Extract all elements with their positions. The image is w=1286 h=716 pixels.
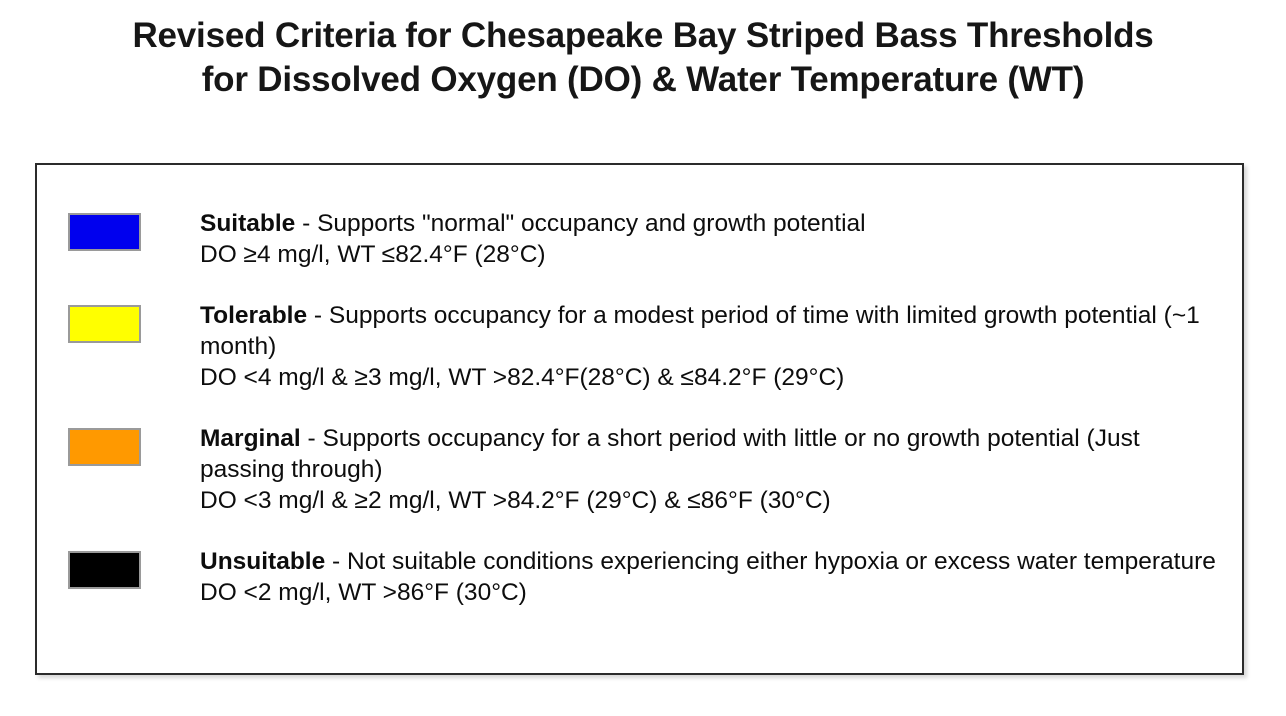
- legend-item-text: Suitable - Supports "normal" occupancy a…: [200, 208, 1222, 270]
- page-title-line-2: for Dissolved Oxygen (DO) & Water Temper…: [0, 58, 1286, 102]
- color-swatch-tolerable: [68, 305, 141, 343]
- legend-item-label: Unsuitable: [200, 548, 325, 575]
- legend-item-text: Marginal - Supports occupancy for a shor…: [200, 423, 1222, 516]
- page-title: Revised Criteria for Chesapeake Bay Stri…: [0, 14, 1286, 102]
- legend-item-label: Suitable: [200, 210, 295, 237]
- slide-root: Revised Criteria for Chesapeake Bay Stri…: [0, 0, 1286, 716]
- legend-item-description: Supports "normal" occupancy and growth p…: [317, 210, 866, 237]
- legend-item-label: Marginal: [200, 425, 301, 452]
- legend-item-description: Supports occupancy for a modest period o…: [200, 302, 1200, 360]
- legend-item-criteria: DO <3 mg/l & ≥2 mg/l, WT >84.2°F (29°C) …: [200, 485, 1222, 516]
- legend-item-criteria: DO <2 mg/l, WT >86°F (30°C): [200, 577, 1222, 608]
- legend-item-separator: -: [295, 210, 317, 237]
- legend-panel: Suitable - Supports "normal" occupancy a…: [35, 163, 1244, 675]
- legend-item-label: Tolerable: [200, 302, 307, 329]
- legend-item-separator: -: [325, 548, 347, 575]
- legend-item-criteria: DO <4 mg/l & ≥3 mg/l, WT >82.4°F(28°C) &…: [200, 362, 1222, 393]
- list-item: Suitable - Supports "normal" occupancy a…: [68, 208, 1222, 270]
- list-item: Tolerable - Supports occupancy for a mod…: [68, 300, 1222, 393]
- list-item: Unsuitable - Not suitable conditions exp…: [68, 546, 1222, 608]
- list-item: Marginal - Supports occupancy for a shor…: [68, 423, 1222, 516]
- legend-item-criteria: DO ≥4 mg/l, WT ≤82.4°F (28°C): [200, 239, 1222, 270]
- legend-item-separator: -: [301, 425, 323, 452]
- color-swatch-marginal: [68, 428, 141, 466]
- color-swatch-suitable: [68, 213, 141, 251]
- color-swatch-unsuitable: [68, 551, 141, 589]
- page-title-line-1: Revised Criteria for Chesapeake Bay Stri…: [0, 14, 1286, 58]
- legend-item-description: Supports occupancy for a short period wi…: [200, 425, 1140, 483]
- legend-item-text: Tolerable - Supports occupancy for a mod…: [200, 300, 1222, 393]
- legend-item-description: Not suitable conditions experiencing eit…: [347, 548, 1216, 575]
- legend-item-text: Unsuitable - Not suitable conditions exp…: [200, 546, 1222, 608]
- legend-list: Suitable - Supports "normal" occupancy a…: [68, 208, 1222, 608]
- legend-item-separator: -: [307, 302, 329, 329]
